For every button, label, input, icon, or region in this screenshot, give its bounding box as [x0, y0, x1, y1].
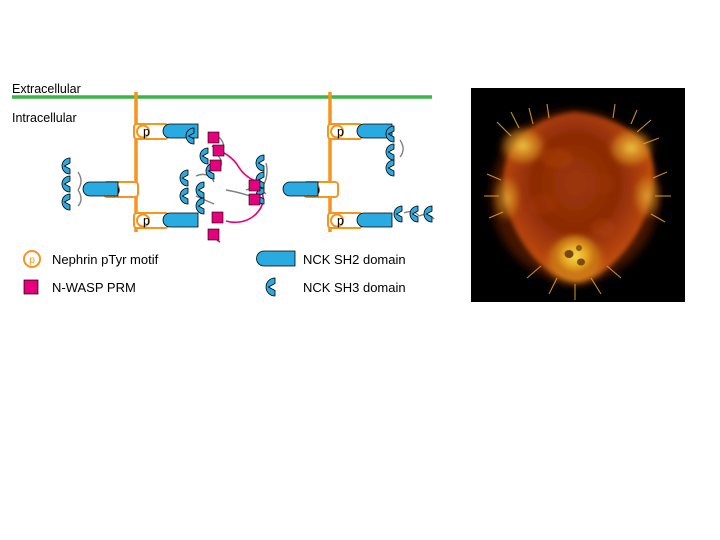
nwasp-prm-squares [208, 132, 260, 240]
nucleus-region [553, 236, 597, 276]
edge-left [491, 172, 523, 224]
legend-item-nwasp: N-WASP PRM [24, 280, 136, 295]
lamellipodium-right [605, 126, 657, 170]
legend-label-nephrin: Nephrin pTyr motif [52, 252, 159, 267]
legend-label-sh2: NCK SH2 domain [303, 252, 406, 267]
legend-item-nephrin: p Nephrin pTyr motif [24, 251, 159, 267]
label-intracellular: Intracellular [12, 111, 77, 125]
legend-phospho-glyph: p [29, 254, 35, 266]
legend-label-sh3: NCK SH3 domain [303, 280, 406, 295]
phospho-glyph-3: p [337, 125, 344, 139]
phospho-glyph-4: p [337, 214, 344, 228]
nck-linkers [78, 135, 434, 219]
phospho-glyph-2: p [143, 214, 150, 228]
nck-sh3-icon [266, 278, 275, 296]
nck-sh2-icon [257, 251, 296, 266]
legend: p Nephrin pTyr motif N-WASP PRM NCK SH2 … [24, 251, 406, 296]
legend-item-sh2: NCK SH2 domain [257, 251, 406, 267]
fluorescence-micrograph [471, 88, 685, 302]
legend-item-sh3: NCK SH3 domain [266, 278, 406, 296]
label-extracellular: Extracellular [12, 82, 81, 96]
legend-label-nwasp: N-WASP PRM [52, 280, 136, 295]
figure-root: Extracellular Intracellular [0, 0, 720, 540]
phospho-glyph-1: p [143, 125, 150, 139]
lamellipodium-left [497, 124, 549, 168]
nck-sh3-domains [62, 126, 432, 222]
signaling-diagram: Extracellular Intracellular [0, 0, 460, 320]
nwasp-prm-icon [24, 280, 38, 294]
